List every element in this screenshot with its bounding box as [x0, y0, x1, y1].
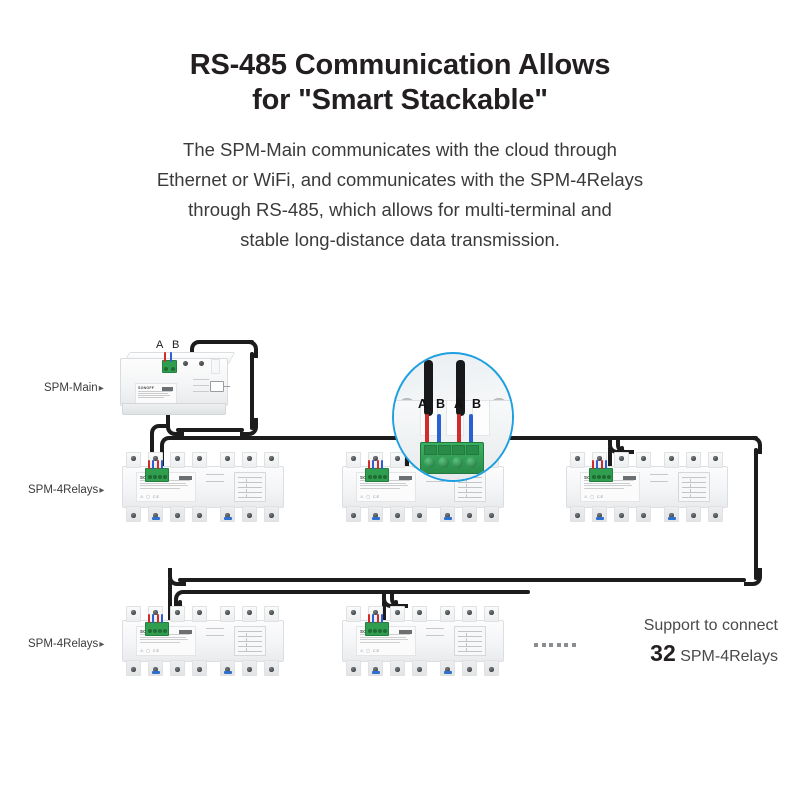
nameplate-barcode — [399, 630, 412, 634]
terminal-post — [126, 506, 141, 522]
blue-marker — [152, 671, 160, 674]
terminal-screw — [395, 513, 400, 518]
nameplate-barcode — [179, 630, 192, 634]
terminal-screw — [713, 456, 718, 461]
support-note: Support to connect 32 SPM-4Relays — [573, 615, 778, 670]
terminal-screw — [131, 667, 136, 672]
page-subtitle: The SPM-Main communicates with the cloud… — [95, 135, 705, 255]
blue-marker — [224, 671, 232, 674]
terminal-screw — [575, 513, 580, 518]
terminal-screw — [175, 456, 180, 461]
terminal-post — [170, 660, 185, 676]
terminal-screw — [225, 610, 230, 615]
wire-a-red — [425, 414, 429, 444]
wire-b-blue — [170, 352, 172, 362]
terminal-screw — [269, 456, 274, 461]
terminal-post — [440, 606, 455, 622]
ellipsis-dot — [534, 643, 538, 647]
terminal-post — [220, 660, 235, 676]
terminal-post — [686, 506, 701, 522]
wire-b-blue — [161, 614, 163, 623]
terminal-slot — [438, 445, 451, 455]
nameplate-barcode — [179, 476, 192, 480]
terminal-post — [170, 606, 185, 622]
wire-a-red — [377, 614, 379, 623]
blue-marker — [444, 517, 452, 520]
terminal-screw — [199, 361, 204, 366]
wire-a-red — [377, 460, 379, 469]
terminal-label-a: A — [156, 340, 163, 351]
terminal-post — [462, 606, 477, 622]
terminal-row-bottom — [342, 506, 502, 520]
certification-marks: ⚠ ▢ CE — [584, 494, 604, 499]
device-spm-4relays-3: SONOFF⚠ ▢ CE — [566, 452, 726, 524]
terminal-screw — [247, 610, 252, 615]
wire-a-red — [148, 614, 150, 623]
magnified-label-b2: B — [472, 398, 481, 410]
device-port-labels — [206, 628, 228, 642]
support-line-1: Support to connect — [573, 615, 778, 637]
rs485-terminal-block — [145, 622, 169, 636]
terminal-post — [484, 506, 499, 522]
title-line-2: for "Smart Stackable" — [252, 84, 548, 116]
terminal-post — [242, 506, 257, 522]
terminal-post — [368, 506, 383, 522]
ethernet-port-icon — [210, 381, 224, 392]
terminal-post — [570, 452, 585, 468]
ellipsis-dot — [557, 643, 561, 647]
wire-b-blue — [596, 460, 598, 469]
row-label-relays-bottom-text: SPM-4Relays — [28, 638, 98, 650]
certification-marks: ⚠ ▢ CE — [140, 494, 160, 499]
wire-b-blue — [437, 414, 441, 444]
terminal-post — [390, 506, 405, 522]
device-spm-4relays-5: SONOFF⚠ ▢ CE — [342, 606, 502, 678]
terminal-screw — [197, 610, 202, 615]
caret-icon: ▸ — [99, 485, 104, 496]
terminal-screw — [395, 610, 400, 615]
wire-a-red — [592, 460, 594, 469]
device-nameplate: SONOFF — [135, 383, 177, 405]
terminal-post — [570, 506, 585, 522]
terminal-post — [664, 506, 679, 522]
terminal-label-b: B — [172, 340, 179, 351]
certification-marks: ⚠ ▢ CE — [360, 648, 380, 653]
wire-b-blue — [152, 614, 154, 623]
certification-marks: ⚠ ▢ CE — [360, 494, 380, 499]
nameplate-barcode — [623, 476, 636, 480]
terminal-screw — [247, 513, 252, 518]
terminal-screw — [467, 513, 472, 518]
blue-marker — [444, 671, 452, 674]
terminal-screw — [351, 667, 356, 672]
terminal-post — [664, 452, 679, 468]
terminal-post — [220, 452, 235, 468]
rs485-terminal-block — [365, 468, 389, 482]
rs485-terminal-block — [365, 622, 389, 636]
wire-corner — [240, 418, 258, 436]
wire-b-blue — [381, 460, 383, 469]
terminal-post — [440, 506, 455, 522]
terminal-row-bottom — [122, 660, 282, 674]
terminal-screw — [351, 610, 356, 615]
terminal-screw — [619, 513, 624, 518]
terminal-screw — [247, 456, 252, 461]
title-line-1: RS-485 Communication Allows — [190, 49, 611, 81]
wire-b-blue — [152, 460, 154, 469]
blue-marker — [224, 517, 232, 520]
terminal-post — [126, 606, 141, 622]
terminal-post — [686, 452, 701, 468]
wire-corner — [744, 568, 762, 586]
terminal-post — [220, 506, 235, 522]
circuit-schematic-icon — [234, 626, 266, 656]
terminal-pin — [438, 457, 449, 468]
terminal-screw — [619, 456, 624, 461]
terminal-post — [220, 606, 235, 622]
terminal-post — [126, 660, 141, 676]
terminal-post — [264, 452, 279, 468]
terminal-post — [170, 452, 185, 468]
terminal-screw — [247, 667, 252, 672]
circuit-schematic-icon — [454, 626, 486, 656]
terminal-screw — [395, 667, 400, 672]
terminal-row-top — [566, 452, 726, 466]
rs485-terminal-block — [589, 468, 613, 482]
terminal-post — [614, 506, 629, 522]
ellipsis-dot — [542, 643, 546, 647]
page-title: RS-485 Communication Allows for "Smart S… — [0, 48, 800, 118]
terminal-post — [242, 660, 257, 676]
terminal-post — [412, 506, 427, 522]
terminal-post — [462, 506, 477, 522]
terminal-screw — [197, 513, 202, 518]
caret-icon: ▸ — [99, 383, 104, 394]
wire-segment — [172, 436, 415, 440]
terminal-screw — [175, 610, 180, 615]
terminal-pin — [452, 457, 463, 468]
terminal-post — [462, 660, 477, 676]
relay-count-unit: SPM-4Relays — [676, 648, 778, 665]
terminal-screw — [641, 456, 646, 461]
ellipsis-dot — [564, 643, 568, 647]
terminal-post — [614, 452, 629, 468]
terminal-screw — [269, 513, 274, 518]
terminal-post — [636, 452, 651, 468]
wire-b-blue — [372, 614, 374, 623]
terminal-post — [412, 606, 427, 622]
device-spm-4relays-4: SONOFF⚠ ▢ CE — [122, 606, 282, 678]
terminal-post — [264, 606, 279, 622]
subtitle-line-4: stable long-distance data transmission. — [240, 229, 560, 250]
terminal-screw — [175, 513, 180, 518]
subtitle-line-2: Ethernet or WiFi, and communicates with … — [157, 169, 643, 190]
terminal-post — [264, 660, 279, 676]
device-foot — [122, 403, 226, 415]
terminal-post — [264, 506, 279, 522]
terminal-screw — [489, 667, 494, 672]
terminal-screw — [131, 513, 136, 518]
blue-marker — [372, 671, 380, 674]
terminal-slot — [452, 445, 465, 455]
terminal-post — [148, 660, 163, 676]
terminal-slot — [424, 445, 437, 455]
terminal-post — [440, 660, 455, 676]
magnified-label-a1: A — [418, 398, 427, 410]
wire-b-blue — [161, 460, 163, 469]
magnifier-detail-circle: A B A B — [392, 352, 514, 482]
row-label-relays-top-text: SPM-4Relays — [28, 484, 98, 496]
ellipsis-dot — [549, 643, 553, 647]
terminal-post — [192, 506, 207, 522]
circuit-schematic-icon — [678, 472, 710, 502]
terminal-post — [346, 660, 361, 676]
wire-a-red — [164, 352, 166, 362]
terminal-post — [390, 606, 405, 622]
terminal-post — [592, 506, 607, 522]
terminal-screw — [131, 456, 136, 461]
terminal-screw — [351, 456, 356, 461]
terminal-post — [368, 660, 383, 676]
terminal-pin — [424, 457, 435, 468]
device-spm-4relays-1: SONOFF⚠ ▢ CE — [122, 452, 282, 524]
terminal-screw — [489, 513, 494, 518]
device-port-labels — [206, 474, 228, 488]
circuit-schematic-icon — [234, 472, 266, 502]
nameplate-barcode — [162, 387, 173, 391]
device-port-labels — [426, 628, 448, 642]
wire-a-red — [368, 460, 370, 469]
terminal-row-bottom — [566, 506, 726, 520]
terminal-post — [636, 506, 651, 522]
terminal-post — [346, 452, 361, 468]
terminal-screw — [713, 513, 718, 518]
terminal-post — [346, 606, 361, 622]
terminal-screw — [445, 610, 450, 615]
terminal-screw — [575, 456, 580, 461]
rs485-terminal-block — [145, 468, 169, 482]
terminal-post — [242, 452, 257, 468]
terminal-row-top — [122, 606, 282, 620]
terminal-screw — [641, 513, 646, 518]
blue-marker — [668, 517, 676, 520]
terminal-screw — [175, 667, 180, 672]
terminal-post — [412, 660, 427, 676]
support-line-2: 32 SPM-4Relays — [573, 640, 778, 670]
terminal-screw — [467, 667, 472, 672]
magnified-terminal-block — [420, 442, 484, 474]
terminal-screw — [417, 667, 422, 672]
wire-a-red — [457, 414, 461, 444]
terminal-row-bottom — [122, 506, 282, 520]
blue-marker — [152, 517, 160, 520]
terminal-screw — [489, 610, 494, 615]
terminal-screw — [197, 667, 202, 672]
terminal-screw — [351, 513, 356, 518]
terminal-screw — [691, 513, 696, 518]
terminal-slot — [211, 359, 220, 374]
terminal-screw — [417, 610, 422, 615]
wire-segment — [754, 448, 758, 580]
blue-marker — [372, 517, 380, 520]
wire-b-blue — [381, 614, 383, 623]
terminal-post — [148, 506, 163, 522]
device-spm-main: SONOFF ⚠ ▢ CE ▢ A B — [120, 348, 236, 420]
terminal-post — [192, 606, 207, 622]
wire-segment — [176, 428, 244, 432]
terminal-row-bottom — [342, 660, 502, 674]
terminal-pin — [466, 457, 477, 468]
blue-marker — [596, 517, 604, 520]
terminal-post — [708, 452, 723, 468]
certification-marks: ⚠ ▢ CE — [140, 648, 160, 653]
wire-a-red — [368, 614, 370, 623]
terminal-screw — [225, 456, 230, 461]
terminal-screw — [197, 456, 202, 461]
nameplate-textlines — [138, 391, 176, 399]
terminal-screw — [467, 610, 472, 615]
terminal-post — [346, 506, 361, 522]
terminal-post — [192, 452, 207, 468]
terminal-post — [126, 452, 141, 468]
wire-a-red — [157, 614, 159, 623]
terminal-post — [242, 606, 257, 622]
subtitle-line-1: The SPM-Main communicates with the cloud… — [183, 139, 617, 160]
wire-a-red — [601, 460, 603, 469]
wire-a-red — [148, 460, 150, 469]
terminal-post — [708, 506, 723, 522]
terminal-post — [170, 506, 185, 522]
wire-segment — [178, 578, 746, 582]
terminal-row-top — [342, 606, 502, 620]
wire-b-blue — [605, 460, 607, 469]
terminal-screw — [417, 513, 422, 518]
wire-corner — [744, 436, 762, 454]
terminal-row-top — [122, 452, 282, 466]
terminal-screw — [269, 610, 274, 615]
row-label-spm-main-text: SPM-Main — [44, 382, 98, 394]
terminal-screw — [691, 456, 696, 461]
terminal-screw — [183, 361, 188, 366]
terminal-post — [484, 660, 499, 676]
terminal-screw — [131, 610, 136, 615]
row-label-relays-bottom: SPM-4Relays▸ — [28, 638, 104, 650]
terminal-post — [484, 606, 499, 622]
product-infographic: RS-485 Communication Allows for "Smart S… — [0, 0, 800, 800]
magnified-label-a2: A — [454, 398, 463, 410]
relay-count: 32 — [650, 640, 676, 666]
terminal-post — [390, 660, 405, 676]
terminal-screw — [669, 456, 674, 461]
wire-b-blue — [469, 414, 473, 444]
terminal-post — [192, 660, 207, 676]
terminal-screw — [269, 667, 274, 672]
wire-b-blue — [372, 460, 374, 469]
caret-icon: ▸ — [99, 639, 104, 650]
subtitle-line-3: through RS-485, which allows for multi-t… — [188, 199, 612, 220]
row-label-relays-top: SPM-4Relays▸ — [28, 484, 104, 496]
device-port-labels — [650, 474, 672, 488]
terminal-slot — [466, 445, 479, 455]
row-label-spm-main: SPM-Main▸ — [44, 382, 104, 394]
wire-a-red — [157, 460, 159, 469]
magnified-label-b1: B — [436, 398, 445, 410]
header-block: RS-485 Communication Allows for "Smart S… — [0, 48, 800, 255]
wire-segment — [186, 590, 530, 594]
wire-corner — [240, 340, 258, 358]
